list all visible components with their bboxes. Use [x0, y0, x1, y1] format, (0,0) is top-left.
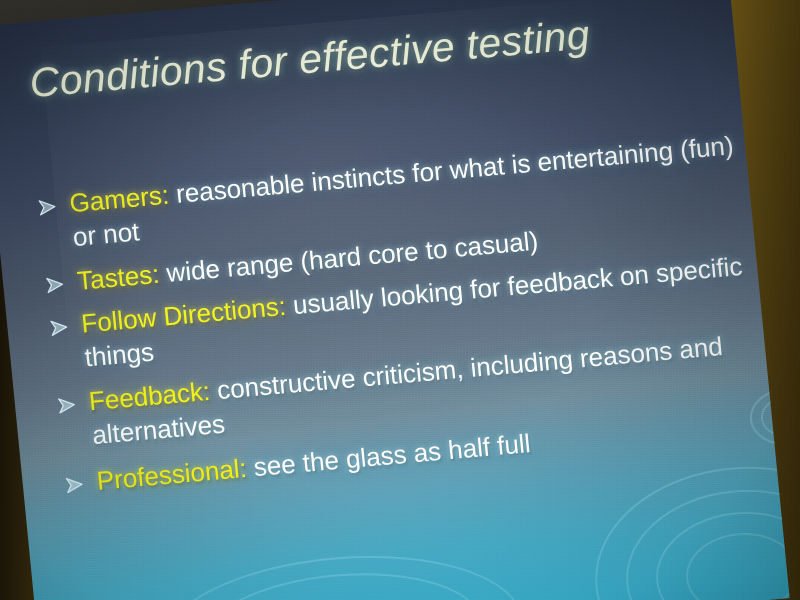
arrowhead-right-icon: [45, 275, 67, 295]
arrowhead-right-icon: [49, 318, 71, 338]
bullet-keyword: Follow Directions:: [80, 291, 287, 339]
arrowhead-right-icon: [56, 395, 78, 415]
slide-content: Conditions for effective testing Gamers:…: [0, 0, 790, 600]
bullet-keyword: Gamers:: [68, 180, 170, 219]
slide-surface: Conditions for effective testing Gamers:…: [0, 0, 790, 600]
bullet-keyword: Professional:: [95, 452, 248, 495]
bullet-keyword: Tastes:: [76, 258, 161, 295]
slide-bullet-list: Gamers: reasonable instincts for what is…: [34, 129, 768, 503]
arrowhead-right-icon: [37, 197, 59, 217]
arrowhead-right-icon: [64, 475, 86, 495]
bullet-text: see the glass as half full: [245, 428, 532, 483]
slide-title: Conditions for effective testing: [27, 0, 719, 107]
photograph-of-projected-slide: Conditions for effective testing Gamers:…: [0, 0, 800, 600]
projection-screen: Conditions for effective testing Gamers:…: [0, 0, 790, 600]
